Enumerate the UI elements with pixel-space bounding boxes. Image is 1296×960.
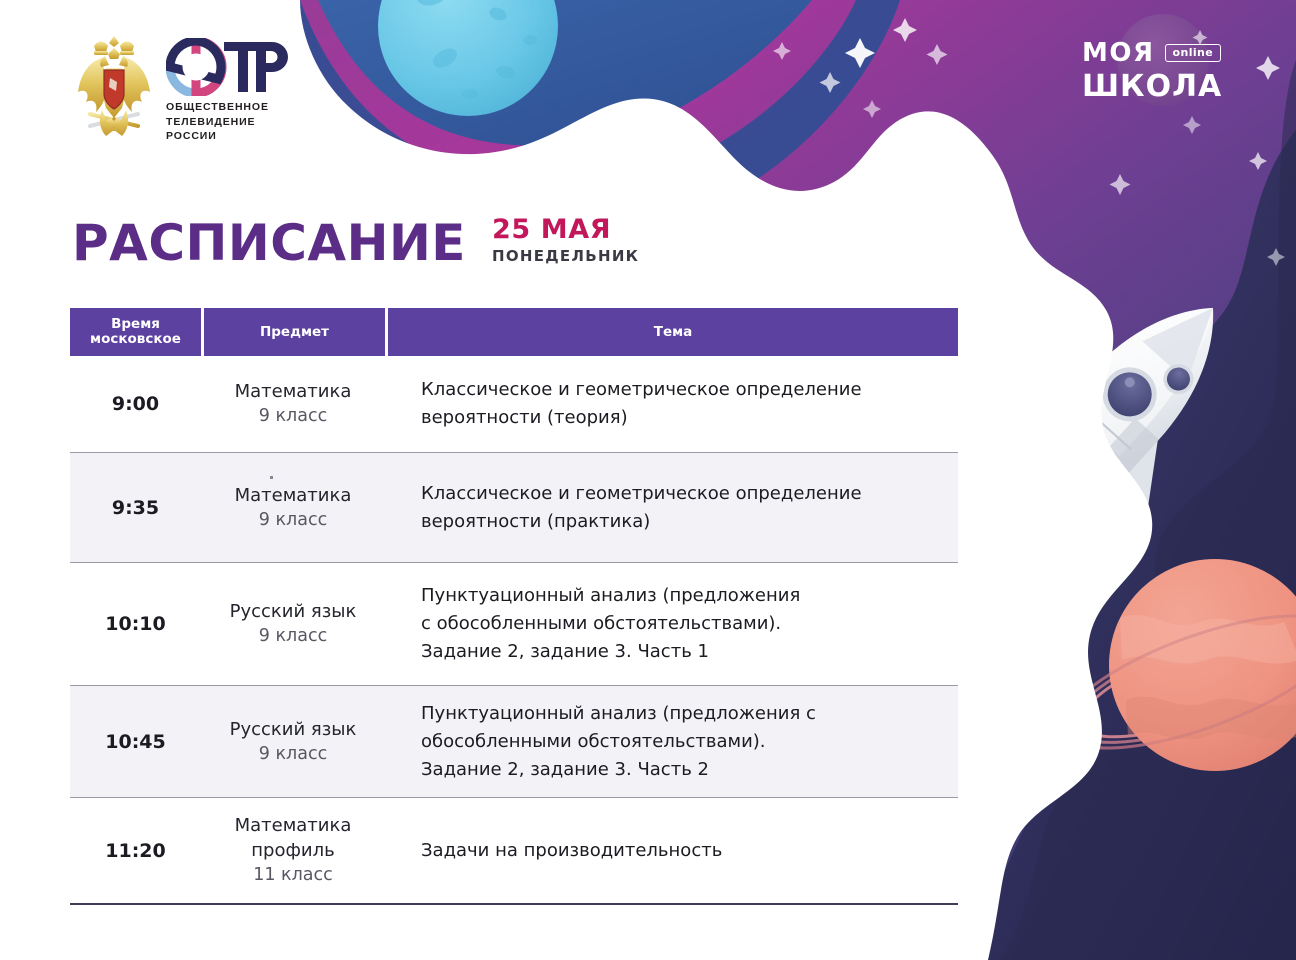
cell-topic: Пунктуационный анализ (предложения с обо… — [385, 700, 958, 784]
cell-topic: Классическое и геометрическое определени… — [385, 376, 958, 432]
subject-grade: 9 класс — [201, 404, 385, 429]
subject-name: Русский язык — [230, 601, 357, 622]
otp-logo: ОБЩЕСТВЕННОЕ ТЕЛЕВИДЕНИЕ РОССИИ — [72, 32, 290, 144]
cell-topic: Классическое и геометрическое определени… — [385, 480, 958, 536]
table-row: 10:45 Русский язык 9 класс Пунктуационны… — [70, 685, 958, 797]
subject-grade: 9 класс — [201, 508, 385, 533]
subject-name: Математика — [235, 381, 352, 402]
table-row: 9:35 Математика 9 класс Классическое и г… — [70, 452, 958, 562]
cell-topic: Пунктуационный анализ (предложения с обо… — [385, 582, 958, 666]
cell-time: 11:20 — [70, 840, 201, 862]
subject-grade: 9 класс — [201, 624, 385, 649]
subject-name: Математика — [235, 485, 352, 506]
table-row: 9:00 Математика 9 класс Классическое и г… — [70, 356, 958, 452]
header-subject: Предмет — [204, 308, 385, 356]
title-date-block: 25 МАЯ ПОНЕДЕЛЬНИК — [492, 216, 639, 269]
otp-wordmark-icon — [166, 38, 290, 96]
print-artifact-dot — [270, 476, 273, 479]
table-row: 10:10 Русский язык 9 класс Пунктуационны… — [70, 562, 958, 685]
subject-grade: 9 класс — [201, 742, 385, 767]
schedule-table: Время московское Предмет Тема 9:00 Матем… — [70, 308, 958, 905]
subject-grade: 11 класс — [201, 863, 385, 888]
otp-subtitle: ОБЩЕСТВЕННОЕ ТЕЛЕВИДЕНИЕ РОССИИ — [166, 100, 290, 144]
subject-name: Русский язык — [230, 719, 357, 740]
cell-time: 10:10 — [70, 613, 201, 635]
cell-subject: Русский язык 9 класс — [201, 717, 385, 767]
russian-coat-of-arms-icon — [72, 32, 156, 140]
my-school-line1: МОЯ — [1082, 38, 1155, 68]
online-badge: online — [1165, 44, 1222, 63]
cell-subject: Математика 9 класс — [201, 379, 385, 429]
header-time: Время московское — [70, 308, 201, 356]
table-header-row: Время московское Предмет Тема — [70, 308, 958, 356]
header-topic: Тема — [388, 308, 958, 356]
subject-name: Математика профиль — [235, 815, 352, 861]
cell-topic: Задачи на производительность — [385, 837, 958, 865]
cell-time: 9:35 — [70, 497, 201, 519]
cell-subject: Математика профиль 11 класс — [201, 813, 385, 888]
cell-subject: Русский язык 9 класс — [201, 599, 385, 649]
cell-time: 9:00 — [70, 393, 201, 415]
my-school-logo: МОЯ online ШКОЛА — [1082, 38, 1272, 130]
table-row: 11:20 Математика профиль 11 класс Задачи… — [70, 797, 958, 905]
my-school-line2: ШКОЛА — [1082, 70, 1222, 104]
poster-canvas: ОБЩЕСТВЕННОЕ ТЕЛЕВИДЕНИЕ РОССИИ МОЯ onli… — [0, 0, 1296, 960]
cell-time: 10:45 — [70, 731, 201, 753]
title-schedule-word: РАСПИСАНИЕ — [72, 217, 466, 269]
page-title: РАСПИСАНИЕ 25 МАЯ ПОНЕДЕЛЬНИК — [72, 216, 639, 269]
cell-subject: Математика 9 класс — [201, 483, 385, 533]
title-weekday: ПОНЕДЕЛЬНИК — [492, 247, 639, 265]
title-date: 25 МАЯ — [492, 216, 639, 244]
